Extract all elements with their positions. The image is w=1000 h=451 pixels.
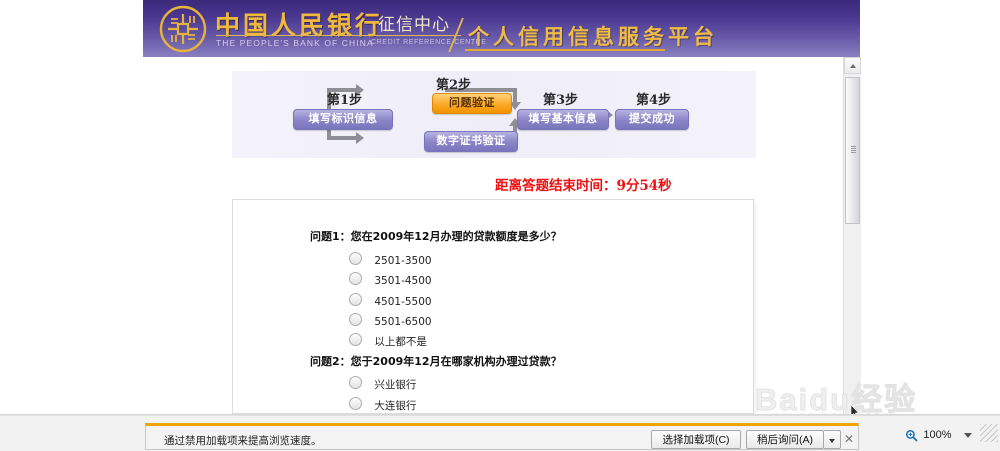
scroll-thumb-grip-icon [851,146,856,153]
option-label: 以上都不是 [374,334,427,349]
browser-viewport: 中国人民银行 征信中心 THE PEOPLE'S BANK OF CHINA C… [0,0,1000,450]
question-1-option-2[interactable]: 3501-4500 [349,272,432,288]
step-label-2-text: 第2步 [436,78,471,93]
zoom-level-label: 100% [923,429,951,441]
question-panel: 问题1：您在2009年12月办理的贷款额度是多少？ 2501-3500 3501… [232,199,754,414]
option-label: 兴业银行 [374,377,416,392]
close-icon[interactable]: ✕ [844,432,854,446]
option-label: 3501-4500 [374,275,431,287]
radio-icon[interactable] [349,272,362,285]
step-label-3: 第3步 [543,89,578,108]
connector-arrowhead-icon [356,132,364,144]
site-bank-name-en: THE PEOPLE'S BANK OF CHINA [216,38,374,48]
notification-dropdown-button[interactable] [824,430,841,449]
question-2-option-2[interactable]: 大连银行 [349,397,416,413]
pboc-emblem-icon [159,5,207,53]
radio-icon[interactable] [349,376,362,389]
radio-icon[interactable] [349,397,362,410]
ask-later-button[interactable]: 稍后询问(A) [746,430,824,449]
countdown-timer: 距离答题结束时间：9分54秒 [495,174,672,194]
step-box-fill-basic-info[interactable]: 填写基本信息 [517,109,609,130]
question-1-title: 问题1：您在2009年12月办理的贷款额度是多少？ [310,228,562,244]
option-label: 5501-6500 [374,316,431,328]
scrollbar-thumb[interactable] [845,77,860,224]
site-center-name-cn: 征信中心 [378,10,450,35]
choose-addons-button[interactable]: 选择加载项(C) [651,430,741,449]
option-label: 大连银行 [374,398,416,413]
question-1-option-1[interactable]: 2501-3500 [349,252,432,268]
step-label-4: 第4步 [636,89,671,108]
step-label-3-text: 第3步 [543,93,578,108]
step-progress-banner: 第1步 填写标识信息 第2步 问题验证 数字证书验证 第3步 填写基本信息 第4… [232,71,756,158]
question-2-option-1[interactable]: 兴业银行 [349,376,416,392]
connector-line [327,136,357,140]
zoom-control[interactable]: 100% [905,429,972,445]
addon-notification-bar: 通过禁用加载项来提高浏览速度。 选择加载项(C) 稍后询问(A) ✕ [145,423,859,450]
site-header-banner: 中国人民银行 征信中心 THE PEOPLE'S BANK OF CHINA C… [143,0,860,57]
scrollbar-up-button[interactable] [844,57,861,74]
question-1-option-5[interactable]: 以上都不是 [349,333,427,349]
resize-grip-icon[interactable] [980,424,998,442]
magnifier-icon [905,429,918,442]
site-bank-name-cn: 中国人民银行 [215,6,383,42]
chevron-down-icon [829,439,835,443]
step-label-2: 第2步 [436,74,471,93]
radio-icon[interactable] [349,313,362,326]
step-label-4-text: 第4步 [636,93,671,108]
vertical-scrollbar[interactable] [843,57,861,415]
question-2-title: 问题2：您于2009年12月在哪家机构办理过贷款？ [310,353,562,369]
question-1-option-3[interactable]: 4501-5500 [349,293,432,309]
step-box-fill-id-info[interactable]: 填写标识信息 [293,109,393,130]
step-box-submit-success[interactable]: 提交成功 [615,109,689,130]
radio-icon[interactable] [349,293,362,306]
option-label: 2501-3500 [374,255,431,267]
notification-message: 通过禁用加载项来提高浏览速度。 [164,433,322,448]
header-divider-rule [216,35,461,36]
option-label: 4501-5500 [374,296,431,308]
step-box-question-verification[interactable]: 问题验证 [432,93,512,114]
radio-icon[interactable] [349,333,362,346]
arrow-up-icon [850,64,856,68]
platform-title: 个人信用信息服务平台 [468,21,718,51]
step-label-1: 第1步 [327,89,362,108]
chevron-down-icon[interactable] [964,433,972,438]
step-box-digital-certificate[interactable]: 数字证书验证 [424,131,518,152]
step-label-1-text: 第1步 [327,93,362,108]
question-1-option-4[interactable]: 5501-6500 [349,313,432,329]
radio-icon[interactable] [349,252,362,265]
platform-title-rule [465,49,665,51]
